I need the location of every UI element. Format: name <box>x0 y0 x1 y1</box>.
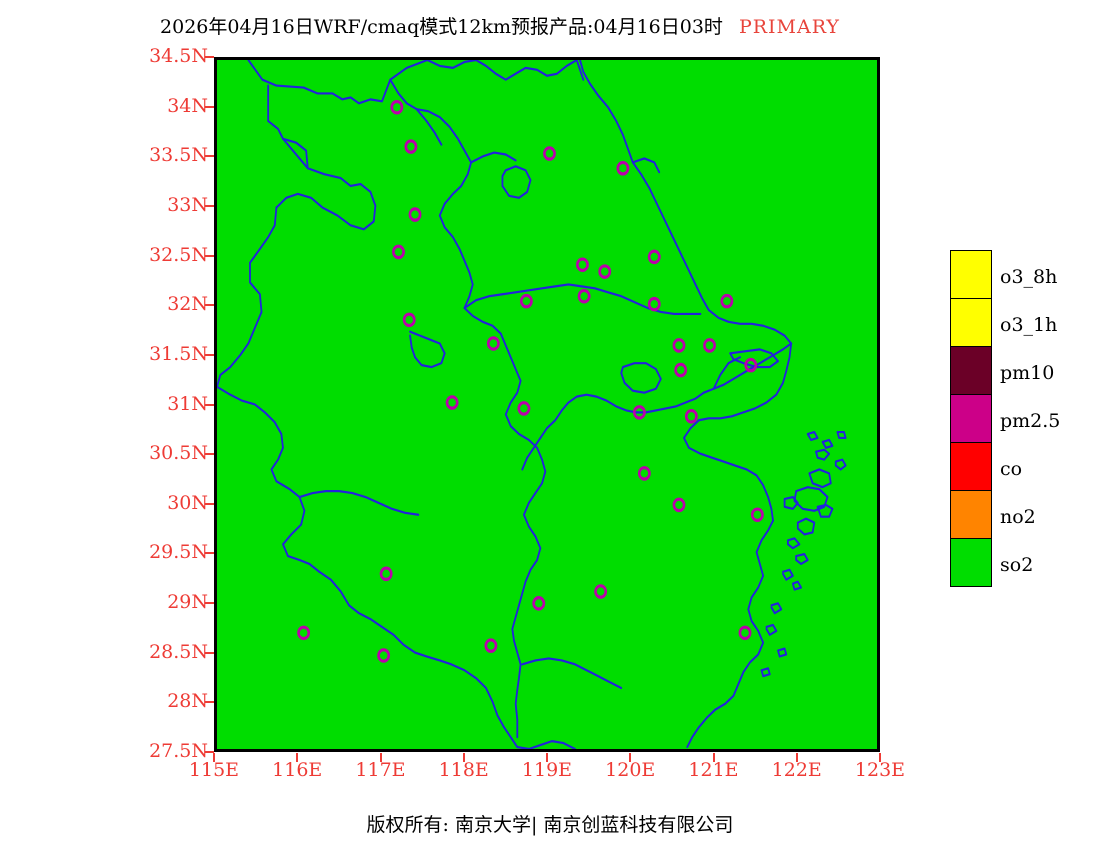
x-axis-tick-mark <box>796 753 798 762</box>
x-axis-tick-mark <box>713 753 715 762</box>
legend-swatch-pm2-5[interactable] <box>950 394 992 443</box>
x-axis-labels: 115E116E117E118E119E120E121E122E123E <box>0 0 1100 850</box>
legend-swatch-o3-1h[interactable] <box>950 298 992 347</box>
x-axis-tick-mark <box>380 753 382 762</box>
x-axis-tick-label: 115E <box>169 761 259 780</box>
legend-swatch-co[interactable] <box>950 442 992 491</box>
x-axis-tick-mark <box>629 753 631 762</box>
legend-label-pm2-5: pm2.5 <box>1000 412 1060 431</box>
x-axis-tick-label: 120E <box>585 761 675 780</box>
pollutant-legend[interactable] <box>950 250 992 587</box>
x-axis-tick-mark <box>546 753 548 762</box>
x-axis-tick-label: 122E <box>752 761 842 780</box>
x-axis-tick-mark <box>879 753 881 762</box>
copyright-footer: 版权所有: 南京大学| 南京创蓝科技有限公司 <box>0 810 1100 837</box>
legend-swatch-so2[interactable] <box>950 538 992 587</box>
x-axis-tick-label: 119E <box>502 761 592 780</box>
legend-swatch-o3-8h[interactable] <box>950 250 992 299</box>
legend-label-co: co <box>1000 460 1022 479</box>
x-axis-tick-label: 116E <box>252 761 342 780</box>
x-axis-tick-mark <box>296 753 298 762</box>
legend-label-o3-8h: o3_8h <box>1000 268 1057 287</box>
legend-swatch-no2[interactable] <box>950 490 992 539</box>
x-axis-tick-mark <box>213 753 215 762</box>
x-axis-tick-label: 117E <box>336 761 426 780</box>
legend-swatch-pm10[interactable] <box>950 346 992 395</box>
x-axis-tick-mark <box>463 753 465 762</box>
legend-label-o3-1h: o3_1h <box>1000 316 1057 335</box>
legend-label-so2: so2 <box>1000 556 1033 575</box>
x-axis-tick-label: 121E <box>669 761 759 780</box>
legend-label-no2: no2 <box>1000 508 1036 527</box>
legend-label-pm10: pm10 <box>1000 364 1054 383</box>
x-axis-tick-label: 118E <box>419 761 509 780</box>
x-axis-tick-label: 123E <box>835 761 925 780</box>
